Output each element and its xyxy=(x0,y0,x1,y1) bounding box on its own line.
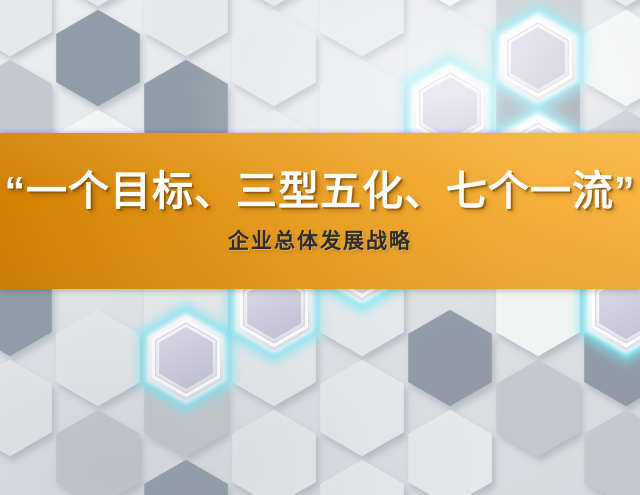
background-hexagon xyxy=(56,410,140,495)
background-hexagon xyxy=(584,0,640,6)
background-hexagon xyxy=(144,460,228,495)
background-hexagon xyxy=(144,0,228,56)
background-hexagon xyxy=(584,410,640,495)
background-hexagon xyxy=(56,10,140,107)
background-hexagon xyxy=(320,0,404,56)
background-hexagon xyxy=(408,0,492,6)
page-title: “一个目标、三型五化、七个一流” xyxy=(5,168,636,215)
background-hexagon xyxy=(496,360,580,457)
background-hexagon xyxy=(408,310,492,407)
background-hexagon xyxy=(408,410,492,495)
background-hexagon xyxy=(0,360,52,457)
background-hexagon xyxy=(584,10,640,107)
background-hexagon xyxy=(56,310,140,407)
page-subtitle: 企业总体发展战略 xyxy=(228,229,412,254)
background-hexagon xyxy=(232,410,316,495)
glowing-hexagon xyxy=(143,308,230,408)
background-hexagon xyxy=(0,0,52,56)
slide-canvas: “一个目标、三型五化、七个一流” 企业总体发展战略 xyxy=(0,0,640,495)
background-hexagon xyxy=(232,0,316,6)
background-hexagon xyxy=(320,360,404,457)
glowing-hexagon xyxy=(495,8,582,108)
background-hexagon xyxy=(56,0,140,6)
background-hexagon xyxy=(232,10,316,107)
title-banner: “一个目标、三型五化、七个一流” 企业总体发展战略 xyxy=(0,133,640,289)
background-hexagon xyxy=(320,460,404,495)
